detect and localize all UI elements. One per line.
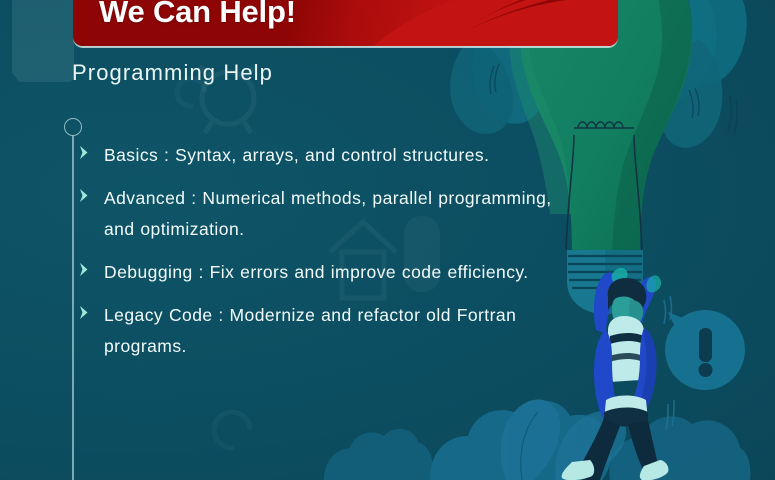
page-title: We Can Help! [99, 0, 296, 27]
list-item-text: Advanced : Numerical methods, parallel p… [104, 183, 578, 245]
chevron-right-icon [78, 140, 104, 160]
timeline-dot [64, 118, 82, 136]
watermark-tablet [12, 0, 74, 82]
list-item-text: Basics : Syntax, arrays, and control str… [104, 140, 578, 171]
timeline-line [72, 136, 74, 480]
slide-canvas: We Can Help! Programming Help Basics : S… [0, 0, 775, 480]
chevron-right-icon [78, 257, 104, 277]
list-item: Debugging : Fix errors and improve code … [78, 257, 578, 288]
list-item-text: Legacy Code : Modernize and refactor old… [104, 300, 578, 362]
section-subtitle: Programming Help [72, 60, 273, 86]
list-item: Legacy Code : Modernize and refactor old… [78, 300, 578, 362]
list-item: Advanced : Numerical methods, parallel p… [78, 183, 578, 245]
title-banner: We Can Help! [73, 0, 618, 47]
list-item-text: Debugging : Fix errors and improve code … [104, 257, 578, 288]
exclamation-speech-bubble [665, 310, 745, 390]
chevron-right-icon [78, 183, 104, 203]
list-item: Basics : Syntax, arrays, and control str… [78, 140, 578, 171]
chevron-right-icon [78, 300, 104, 320]
bullet-list: Basics : Syntax, arrays, and control str… [78, 140, 578, 374]
